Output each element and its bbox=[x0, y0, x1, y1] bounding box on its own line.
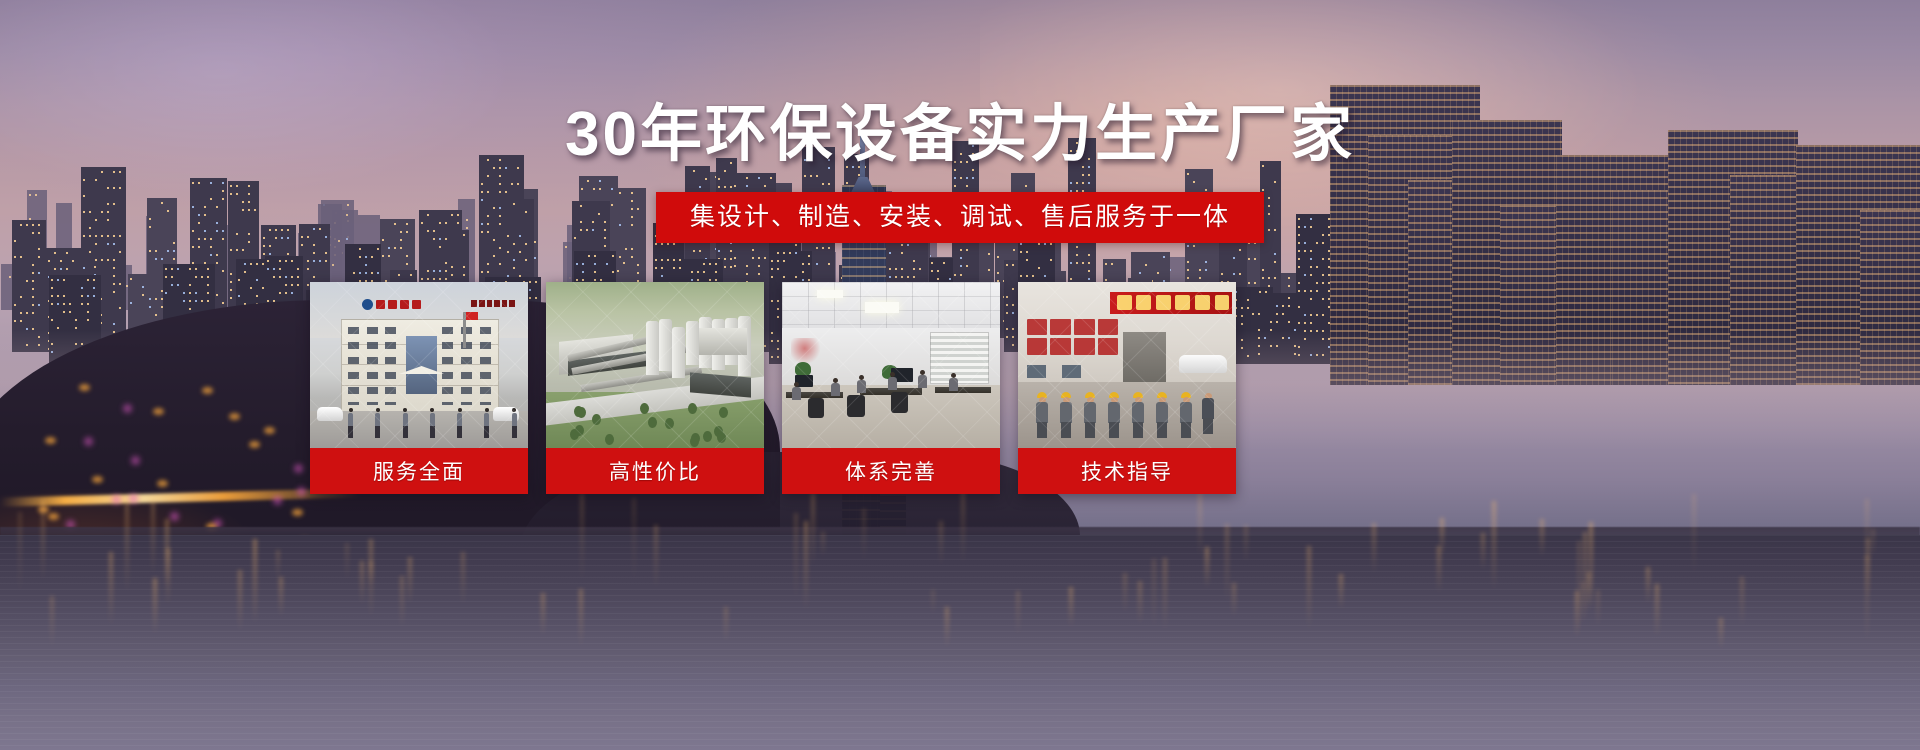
worker-figure bbox=[1155, 392, 1169, 438]
card-photo-plant-aerial bbox=[546, 282, 764, 448]
staff-figure bbox=[374, 408, 381, 438]
tree-shape bbox=[719, 407, 728, 418]
staff-figure bbox=[347, 408, 354, 438]
tree-shape bbox=[592, 414, 601, 425]
hero-banner: 30年环保设备实力生产厂家 集设计、制造、安装、调试、售后服务于一体 bbox=[0, 0, 1920, 750]
tree-shape bbox=[640, 403, 649, 414]
silo-shape bbox=[672, 327, 685, 378]
staff-figure bbox=[511, 408, 518, 438]
feature-card[interactable]: 体系完善 bbox=[782, 282, 1000, 494]
building-phone-sign bbox=[471, 297, 515, 310]
worker-figure bbox=[1059, 392, 1073, 438]
worker-figure bbox=[1083, 392, 1097, 438]
office-building-shape bbox=[341, 319, 500, 414]
seated-person bbox=[917, 370, 928, 392]
card-label: 技术指导 bbox=[1018, 448, 1236, 494]
card-label: 体系完善 bbox=[782, 448, 1000, 494]
staff-figure bbox=[429, 408, 436, 438]
feature-card[interactable]: 技术指导 bbox=[1018, 282, 1236, 494]
tree-shape bbox=[703, 431, 712, 442]
worker-figure bbox=[1131, 392, 1145, 438]
silo-shape bbox=[646, 321, 659, 376]
feature-card-list: 服务全面 高性价比 bbox=[310, 282, 1580, 494]
banner-subtitle-bar: 集设计、制造、安装、调试、售后服务于一体 bbox=[656, 192, 1264, 243]
card-photo-office-building bbox=[310, 282, 528, 448]
tree-shape bbox=[717, 432, 726, 443]
seated-person bbox=[791, 382, 802, 404]
banner-content: 30年环保设备实力生产厂家 集设计、制造、安装、调试、售后服务于一体 bbox=[0, 0, 1920, 750]
card-label: 高性价比 bbox=[546, 448, 764, 494]
supervisor-figure bbox=[1201, 388, 1215, 438]
silo-shape bbox=[686, 321, 699, 364]
worker-figure bbox=[1035, 392, 1049, 438]
staff-figure bbox=[456, 408, 463, 438]
workshop-slogan-text bbox=[1027, 319, 1119, 356]
seated-person bbox=[887, 372, 898, 394]
building-sign-zhongji bbox=[362, 297, 449, 312]
silo-shape bbox=[659, 319, 672, 371]
banner-headline: 30年环保设备实力生产厂家 bbox=[0, 104, 1920, 166]
feature-card[interactable]: 服务全面 bbox=[310, 282, 528, 494]
seated-person bbox=[856, 375, 867, 397]
staff-figure bbox=[483, 408, 490, 438]
workshop-red-banner bbox=[1110, 292, 1232, 314]
window-blinds bbox=[930, 332, 989, 384]
feature-card[interactable]: 高性价比 bbox=[546, 282, 764, 494]
card-photo-office-interior bbox=[782, 282, 1000, 448]
seated-person bbox=[948, 373, 959, 395]
card-label: 服务全面 bbox=[310, 448, 528, 494]
card-photo-workshop-workers bbox=[1018, 282, 1236, 448]
worker-figure bbox=[1179, 392, 1193, 438]
tree-shape bbox=[690, 436, 699, 447]
tree-shape bbox=[575, 425, 584, 436]
seated-person bbox=[830, 378, 841, 400]
banner-subtitle-text: 集设计、制造、安装、调试、售后服务于一体 bbox=[690, 203, 1230, 232]
wall-decal bbox=[791, 338, 825, 364]
worker-figure bbox=[1107, 392, 1121, 438]
tree-shape bbox=[648, 417, 657, 428]
flag-icon bbox=[463, 312, 466, 349]
staff-figure bbox=[402, 408, 409, 438]
